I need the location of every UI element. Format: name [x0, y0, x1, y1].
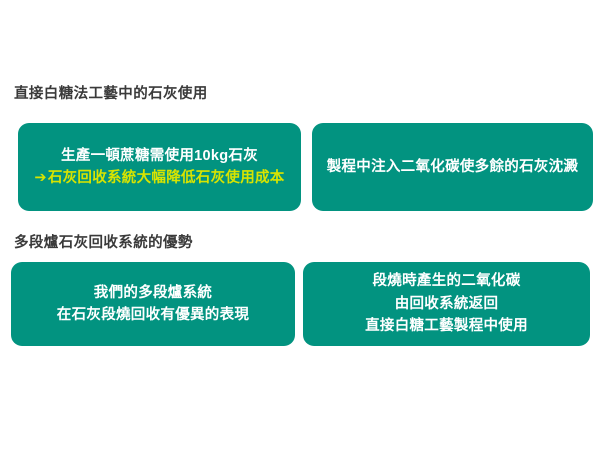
right-arrow-icon: ➔ [34, 170, 47, 186]
card-line: 段燒時產生的二氧化碳 [373, 270, 521, 292]
card-line-highlight-text: 石灰回收系統大幅降低石灰使用成本 [48, 170, 285, 186]
section-heading-lime-usage: 直接白糖法工藝中的石灰使用 [14, 87, 208, 103]
card-line: 直接白糖工藝製程中使用 [365, 315, 528, 337]
card-line: 製程中注入二氧化碳使多餘的石灰沈澱 [327, 156, 579, 178]
section-heading-furnace-advantages: 多段爐石灰回收系統的優勢 [14, 236, 193, 252]
card-co2-return: 段燒時產生的二氧化碳 由回收系統返回 直接白糖工藝製程中使用 [303, 262, 590, 346]
card-lime-usage: 生產一頓蔗糖需使用10kg石灰 ➔石灰回收系統大幅降低石灰使用成本 [18, 123, 301, 211]
card-line: 由回收系統返回 [395, 293, 499, 315]
card-line: 生產一頓蔗糖需使用10kg石灰 [61, 145, 258, 167]
card-line: 我們的多段爐系統 [94, 282, 212, 304]
slide-canvas: 直接白糖法工藝中的石灰使用 生產一頓蔗糖需使用10kg石灰 ➔石灰回收系統大幅降… [0, 0, 600, 450]
card-line: 在石灰段燒回收有優異的表現 [57, 304, 249, 326]
card-furnace-performance: 我們的多段爐系統 在石灰段燒回收有優異的表現 [11, 262, 295, 346]
card-line-highlight: ➔石灰回收系統大幅降低石灰使用成本 [34, 167, 284, 189]
card-co2-injection: 製程中注入二氧化碳使多餘的石灰沈澱 [312, 123, 593, 211]
